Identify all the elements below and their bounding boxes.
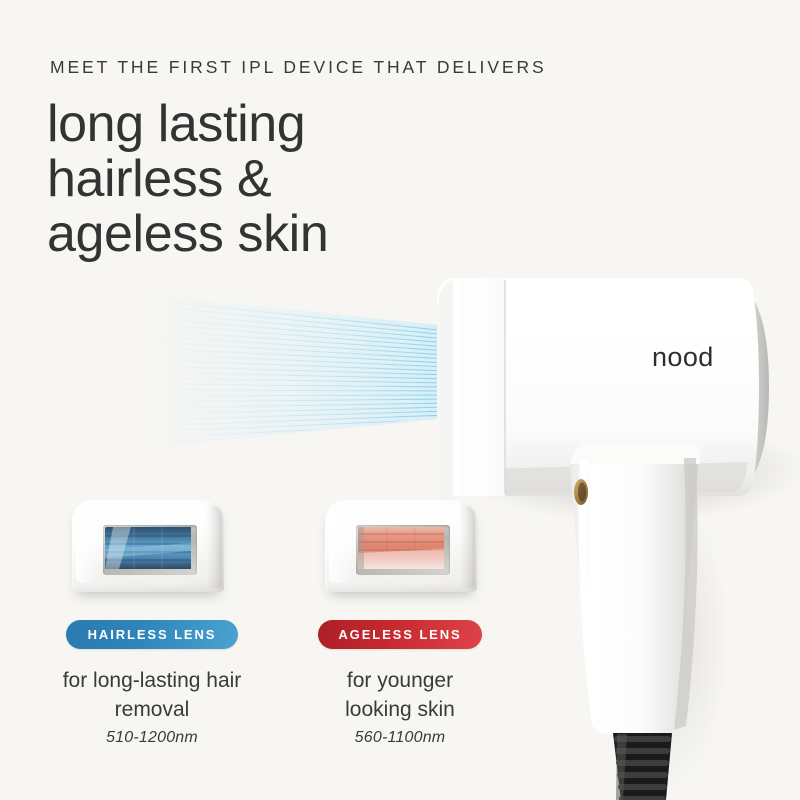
hairless-lens-cartridge [72, 500, 224, 592]
ageless-lens-wavelength: 560-1100nm [290, 729, 510, 747]
hairless-lens-glass [105, 527, 195, 573]
hairless-lens-caption: for long-lasting hair removal [38, 666, 266, 724]
page-title: long lasting hairless & ageless skin [47, 97, 328, 262]
hairless-lens-wavelength: 510-1200nm [38, 729, 266, 747]
ipl-light-beam [148, 276, 448, 462]
brand-wordmark: nood [652, 342, 714, 373]
ageless-lens-cartridge [325, 500, 477, 592]
hairless-lens-badge[interactable]: HAIRLESS LENS [66, 620, 238, 649]
ageless-lens-caption: for younger looking skin [290, 666, 510, 724]
ageless-lens-glass [358, 527, 448, 573]
product-hero-image: MEET THE FIRST IPL DEVICE THAT DELIVERS … [0, 0, 800, 800]
ageless-lens-badge[interactable]: AGELESS LENS [318, 620, 482, 649]
lens-window-frame [356, 525, 450, 575]
eyebrow-text: MEET THE FIRST IPL DEVICE THAT DELIVERS [50, 57, 547, 78]
lens-window-frame [103, 525, 197, 575]
